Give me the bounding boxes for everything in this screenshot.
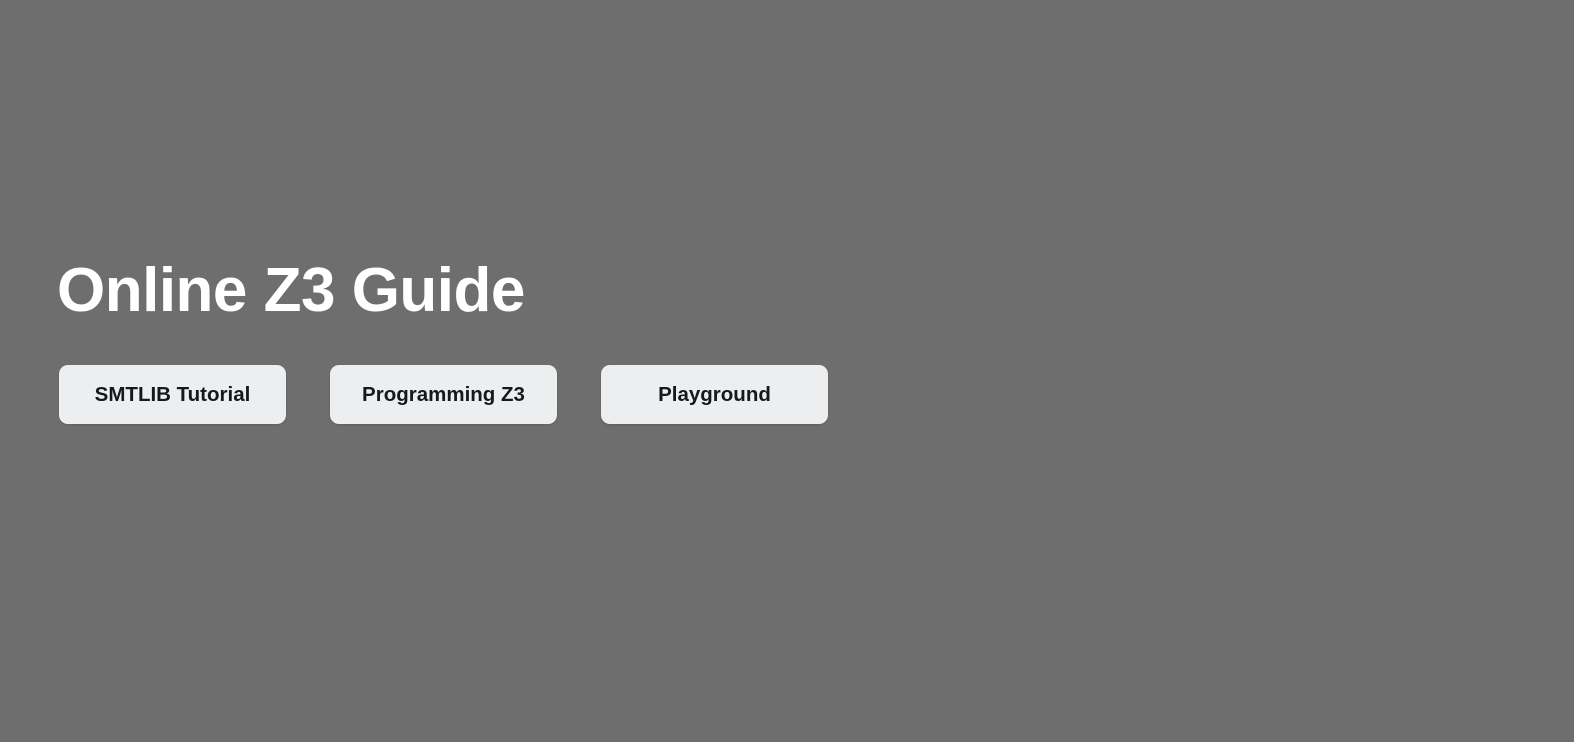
programming-z3-button[interactable]: Programming Z3 xyxy=(330,365,557,424)
seven-top-bar xyxy=(1021,262,1241,317)
three-left-low-stub xyxy=(1289,537,1344,592)
z3-pixel-logo xyxy=(1021,262,1521,582)
playground-button[interactable]: Playground xyxy=(601,365,828,424)
three-left-stub xyxy=(1289,317,1344,372)
hero-text-block: Online Z3 Guide xyxy=(57,258,957,323)
seven-base-blue xyxy=(1197,548,1247,603)
page-title: Online Z3 Guide xyxy=(57,258,957,323)
three-bottom-blue xyxy=(1344,592,1422,647)
three-right-column xyxy=(1465,317,1520,449)
three-mid-bar-blue xyxy=(1344,449,1465,504)
three-top-bar xyxy=(1344,262,1510,317)
hero-button-group: SMTLIB Tutorial Programming Z3 Playgroun… xyxy=(59,365,828,424)
three-bottom-green xyxy=(1422,592,1532,647)
smtlib-tutorial-button[interactable]: SMTLIB Tutorial xyxy=(59,365,286,424)
hero-banner: Online Z3 Guide SMTLIB Tutorial Programm… xyxy=(0,0,1574,742)
seven-neck xyxy=(1186,317,1241,361)
seven-step-3 xyxy=(1076,460,1131,526)
three-mid-bar-green xyxy=(1465,449,1520,504)
seven-base-pink xyxy=(1021,548,1197,603)
